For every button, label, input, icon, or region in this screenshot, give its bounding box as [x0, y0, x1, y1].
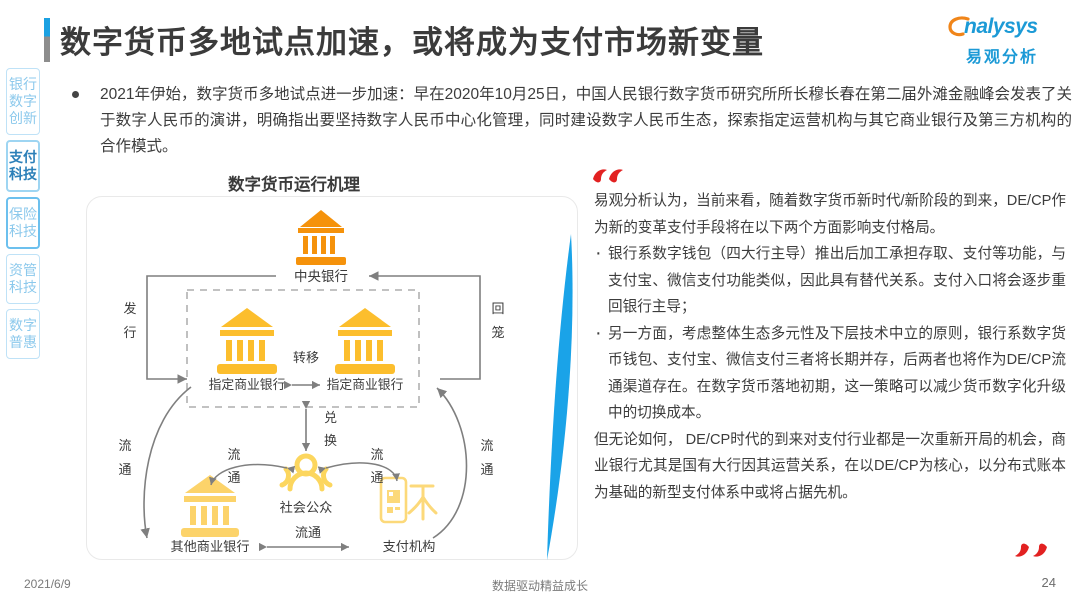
node-label-public: 社会公众 — [280, 500, 333, 515]
designated-bank-right-icon — [335, 308, 395, 374]
edge-label-circ-left-1: 流 — [118, 438, 131, 453]
lead-paragraph: 2021年伊始，数字货币多地试点进一步加速：早在2020年10月25日，中国人民… — [72, 82, 1072, 160]
sidebar-item-bank-digital-innovation[interactable]: 银行数字创新 — [6, 68, 40, 135]
sidebar-item-asset-management-tech[interactable]: 资管科技 — [6, 254, 40, 304]
edge-label-issue-2: 行 — [123, 325, 136, 340]
page-title: 数字货币多地试点加速，或将成为支付市场新变量 — [60, 17, 764, 62]
node-label-designated-bank-left: 指定商业银行 — [209, 377, 286, 392]
public-people-icon — [282, 456, 330, 489]
diagram-container: 中央银行 发 行 回 笼 指定商业银行 — [86, 196, 578, 560]
diagram-title: 数字货币运行机理 — [228, 171, 360, 195]
sidebar-item-label: 支付科技 — [8, 149, 38, 183]
sidebar-item-payment-tech[interactable]: 支付科技 — [6, 140, 40, 192]
analysys-logo: nalysys 易观分析 — [942, 14, 1062, 66]
sidebar: 银行数字创新 支付科技 保险科技 资管科技 数字普惠 — [6, 68, 44, 364]
edge-label-circ-right-1: 流 — [480, 438, 493, 453]
right-analysis-panel: 易观分析认为，当前来看，随着数字货币新时代/新阶段的到来，DE/CP作为新的变革… — [594, 188, 1066, 506]
digital-currency-flow-diagram: 中央银行 发 行 回 笼 指定商业银行 — [87, 197, 577, 559]
node-label-designated-bank-right: 指定商业银行 — [327, 377, 404, 392]
payment-institution-icon — [381, 478, 436, 522]
edge-public-other-bank — [211, 465, 287, 485]
edge-label-circ-bottom: 流通 — [295, 525, 321, 540]
footer-page-number: 24 — [1042, 575, 1056, 590]
footer-tagline: 数据驱动精益成长 — [0, 577, 1080, 594]
edge-label-circ-left-2: 通 — [118, 462, 131, 477]
edge-circulate-right — [433, 388, 467, 538]
analysis-intro: 易观分析认为，当前来看，随着数字货币新时代/新阶段的到来，DE/CP作为新的变革… — [594, 188, 1066, 241]
node-label-central-bank: 中央银行 — [294, 269, 348, 284]
sidebar-item-label: 数字普惠 — [7, 317, 39, 351]
sidebar-item-digital-inclusive-finance[interactable]: 数字普惠 — [6, 309, 40, 359]
edge-label-exchange-2: 换 — [324, 433, 337, 448]
node-label-other-bank: 其他商业银行 — [170, 539, 249, 554]
node-label-payment-institution: 支付机构 — [383, 539, 436, 554]
bullet-dot-icon — [72, 91, 79, 98]
edge-label-withdraw-2: 笼 — [491, 325, 504, 340]
edge-circulate-left — [144, 387, 191, 538]
sidebar-item-label: 资管科技 — [7, 262, 39, 296]
edge-label-circ-pub-right-1: 流 — [370, 447, 383, 462]
central-bank-icon — [296, 210, 346, 265]
lead-paragraph-text: 2021年伊始，数字货币多地试点进一步加速：早在2020年10月25日，中国人民… — [100, 82, 1072, 160]
edge-label-circ-pub-left-1: 流 — [227, 447, 240, 462]
analysis-closing: 但无论如何， DE/CP时代的到来对支付行业都是一次重新开局的机会，商业银行尤其… — [594, 427, 1066, 507]
analysis-bullet-1: 银行系数字钱包（四大行主导）推出后加工承担存取、支付等功能，与支付宝、微信支付功… — [594, 241, 1066, 321]
edge-label-exchange-1: 兑 — [324, 410, 337, 425]
edge-label-circ-pub-left-2: 通 — [227, 470, 240, 485]
quote-close-icon — [1014, 540, 1048, 558]
quote-open-icon — [592, 168, 626, 186]
analysis-bullet-list: 银行系数字钱包（四大行主导）推出后加工承担存取、支付等功能，与支付宝、微信支付功… — [594, 241, 1066, 427]
edge-label-circ-pub-right-2: 通 — [370, 470, 383, 485]
edge-label-issue-1: 发 — [123, 301, 136, 316]
title-accent-bar — [44, 18, 50, 62]
logo-chinese-name: 易观分析 — [942, 43, 1062, 67]
designated-bank-left-icon — [217, 308, 277, 374]
edge-label-transfer: 转移 — [293, 350, 319, 365]
analysis-bullet-2: 另一方面，考虑整体生态多元性及下层技术中立的原则，银行系数字货币钱包、支付宝、微… — [594, 321, 1066, 427]
edge-label-circ-right-2: 通 — [480, 462, 493, 477]
sidebar-item-label: 保险科技 — [8, 206, 38, 240]
edge-label-withdraw-1: 回 — [491, 301, 504, 316]
sidebar-item-label: 银行数字创新 — [7, 76, 39, 127]
logo-wordmark: nalysys — [964, 15, 1038, 39]
sidebar-item-insurance-tech[interactable]: 保险科技 — [6, 197, 40, 249]
slide: 数字货币多地试点加速，或将成为支付市场新变量 nalysys 易观分析 银行数字… — [0, 0, 1080, 608]
